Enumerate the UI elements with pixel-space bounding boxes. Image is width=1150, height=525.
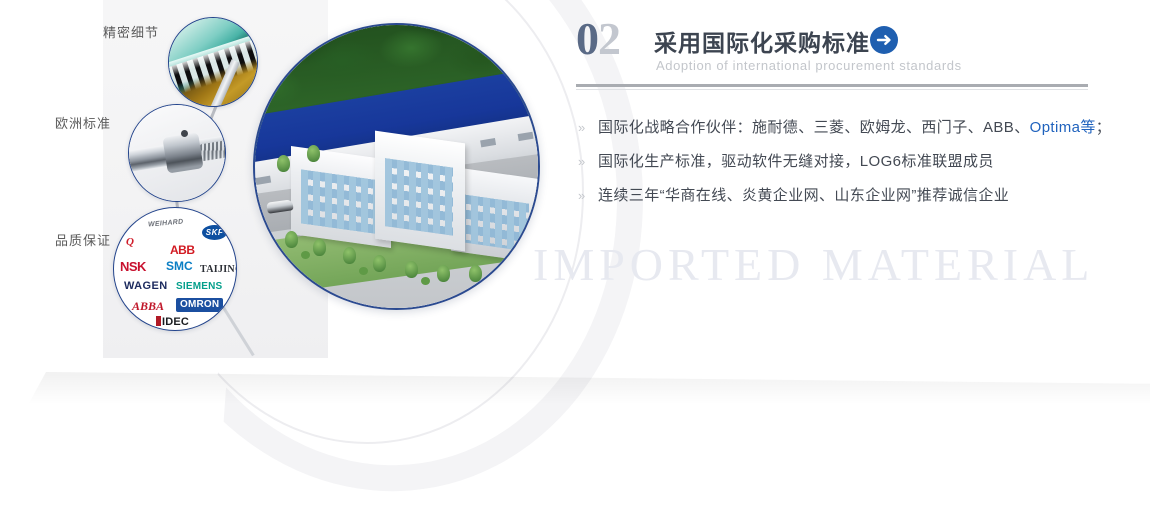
brand-logos-circle: WEIHARD SKF Q ABB NSK SMC TAIJING WAGEN … xyxy=(113,207,237,331)
photo-tree xyxy=(307,145,320,162)
section-title-cn: 采用国际化采购标准 xyxy=(654,24,870,58)
header-divider xyxy=(576,84,1088,90)
logo-smc-mark xyxy=(113,207,132,219)
label-quality-guarantee: 品质保证 xyxy=(55,230,111,249)
logo-omron: OMRON xyxy=(176,298,223,312)
list-item-highlight: Optima等 xyxy=(1030,119,1096,136)
photo-shrub xyxy=(483,277,492,285)
list-item: » 国际化战略合作伙伴：施耐德、三菱、欧姆龙、西门子、ABB、Optima等； xyxy=(576,114,1096,148)
logo-smc: SMC xyxy=(166,260,193,272)
logo-siemens: SIEMENS xyxy=(176,282,222,292)
photo-windows xyxy=(301,169,377,234)
content-column: 02 采用国际化采购标准 Adoption of international p… xyxy=(576,18,1096,76)
logo-wagen: WAGEN xyxy=(124,281,168,292)
photo-tree xyxy=(373,255,386,272)
chevron-right-icon: » xyxy=(578,120,585,135)
bottom-shadow-band xyxy=(0,372,1150,414)
photo-tree xyxy=(405,261,418,278)
watermark-text: IMPORTED MATERIAL xyxy=(533,238,1094,291)
bullet-list: » 国际化战略合作伙伴：施耐德、三菱、欧姆龙、西门子、ABB、Optima等； … xyxy=(576,114,1096,216)
label-european-standard: 欧洲标准 xyxy=(55,113,111,132)
photo-tree xyxy=(437,265,450,282)
section-title-en: Adoption of international procurement st… xyxy=(656,58,962,73)
photo-windows xyxy=(385,158,453,236)
photo-windows xyxy=(459,194,529,252)
ball-screw-nut xyxy=(162,132,203,173)
photo-shrub xyxy=(359,267,368,275)
photo-tree xyxy=(277,155,290,172)
section-number: 02 xyxy=(576,16,620,62)
logo-skf: SKF xyxy=(202,225,227,240)
logo-taijing: TAIJING xyxy=(200,265,237,275)
section-number-second: 2 xyxy=(598,13,620,64)
list-item: » 连续三年“华商在线、炎黄企业网、山东企业网”推荐诚信企业 xyxy=(576,182,1096,216)
logo-abba: ABBA xyxy=(132,300,164,312)
list-item-text: 连续三年“华商在线、炎黄企业网、山东企业网”推荐诚信企业 xyxy=(598,184,1009,205)
arrow-right-icon[interactable] xyxy=(870,26,898,54)
list-item: » 国际化生产标准，驱动软件无缝对接，LOG6标准联盟成员 xyxy=(576,148,1096,182)
list-item-text: 国际化战略合作伙伴：施耐德、三菱、欧姆龙、西门子、ABB、Optima等； xyxy=(598,116,1111,137)
list-item-lead: 国际化生产标准，驱动软件无缝对接，LOG6标准联盟成员 xyxy=(598,153,994,170)
photo-tree xyxy=(343,247,356,264)
ball-screw-thread xyxy=(200,140,226,161)
ball-screw-hole xyxy=(181,130,188,137)
page-root: 精密细节 欧洲标准 品质保证 WEIHARD SKF Q ABB NSK xyxy=(0,0,1150,430)
label-precision-detail: 精密细节 xyxy=(103,22,159,41)
photo-shrub xyxy=(301,251,310,259)
photo-shrub xyxy=(421,277,430,285)
photo-tree xyxy=(285,231,298,248)
photo-office-building-center xyxy=(375,131,465,252)
logo-weihard: WEIHARD xyxy=(148,218,184,228)
gear-macro-photo xyxy=(168,17,258,107)
factory-aerial-photo xyxy=(253,23,540,310)
logo-nsk: NSK xyxy=(120,260,146,273)
logo-abb: ABB xyxy=(170,244,195,256)
photo-tree xyxy=(469,265,482,282)
list-item-lead: 连续三年“华商在线、炎黄企业网、山东企业网”推荐诚信企业 xyxy=(598,187,1009,204)
photo-tree xyxy=(313,239,326,256)
list-item-text: 国际化生产标准，驱动软件无缝对接，LOG6标准联盟成员 xyxy=(598,150,994,171)
ball-screw-photo xyxy=(128,104,226,202)
chevron-right-icon: » xyxy=(578,154,585,169)
logo-script-red: Q xyxy=(126,237,134,248)
list-item-lead: 国际化战略合作伙伴：施耐德、三菱、欧姆龙、西门子、ABB、 xyxy=(598,119,1030,136)
chevron-right-icon: » xyxy=(578,188,585,203)
list-item-tail: ； xyxy=(1096,119,1111,136)
section-number-first: 0 xyxy=(576,13,598,64)
section-header: 02 采用国际化采购标准 Adoption of international p… xyxy=(576,18,1096,76)
logo-idec: IDEC xyxy=(156,316,189,328)
